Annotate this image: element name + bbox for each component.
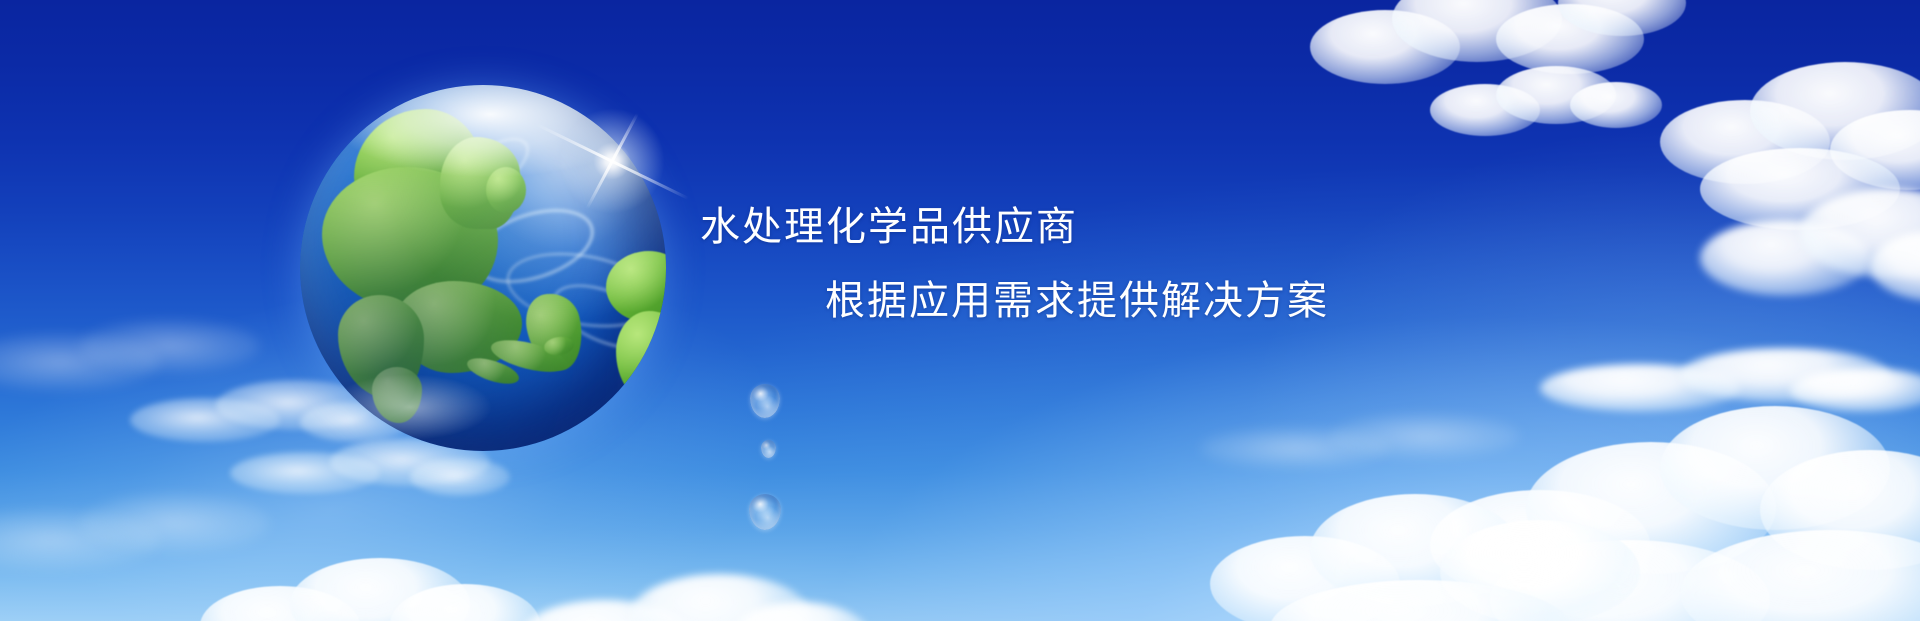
headline-line-2: 根据应用需求提供解决方案 [700,264,1600,338]
earth-globe-graphic [300,85,666,451]
cloud-bottom-center-puff [520,560,860,621]
headline-block: 水处理化学品供应商 根据应用需求提供解决方案 [700,190,1600,338]
cloud-bottom-right-front [1210,470,1630,621]
cloud-wisp-center-right [1200,400,1530,490]
cloud-wisp-far-left [0,300,260,420]
sky-haze-right [1240,120,1920,621]
globe-sphere [300,85,666,451]
cloud-top-right-upper [1300,0,1680,120]
cloud-top-right-small [1430,58,1660,148]
cloud-streak-right-mid [1540,330,1920,440]
water-droplet-large [750,384,780,418]
cloud-right-edge-upper [1640,40,1920,240]
water-droplet-small [761,440,776,458]
cloud-right-edge-mid [1700,170,1920,340]
hero-banner: 水处理化学品供应商 根据应用需求提供解决方案 [0,0,1920,621]
cloud-wisp-bottom-far-left [0,470,260,600]
headline-line-1: 水处理化学品供应商 [700,190,1600,264]
globe-inner-shading [300,85,666,451]
cloud-bottom-left-puff [200,540,530,621]
water-droplet-bottom [749,494,781,530]
cloud-bank-bottom-right [1430,390,1920,621]
